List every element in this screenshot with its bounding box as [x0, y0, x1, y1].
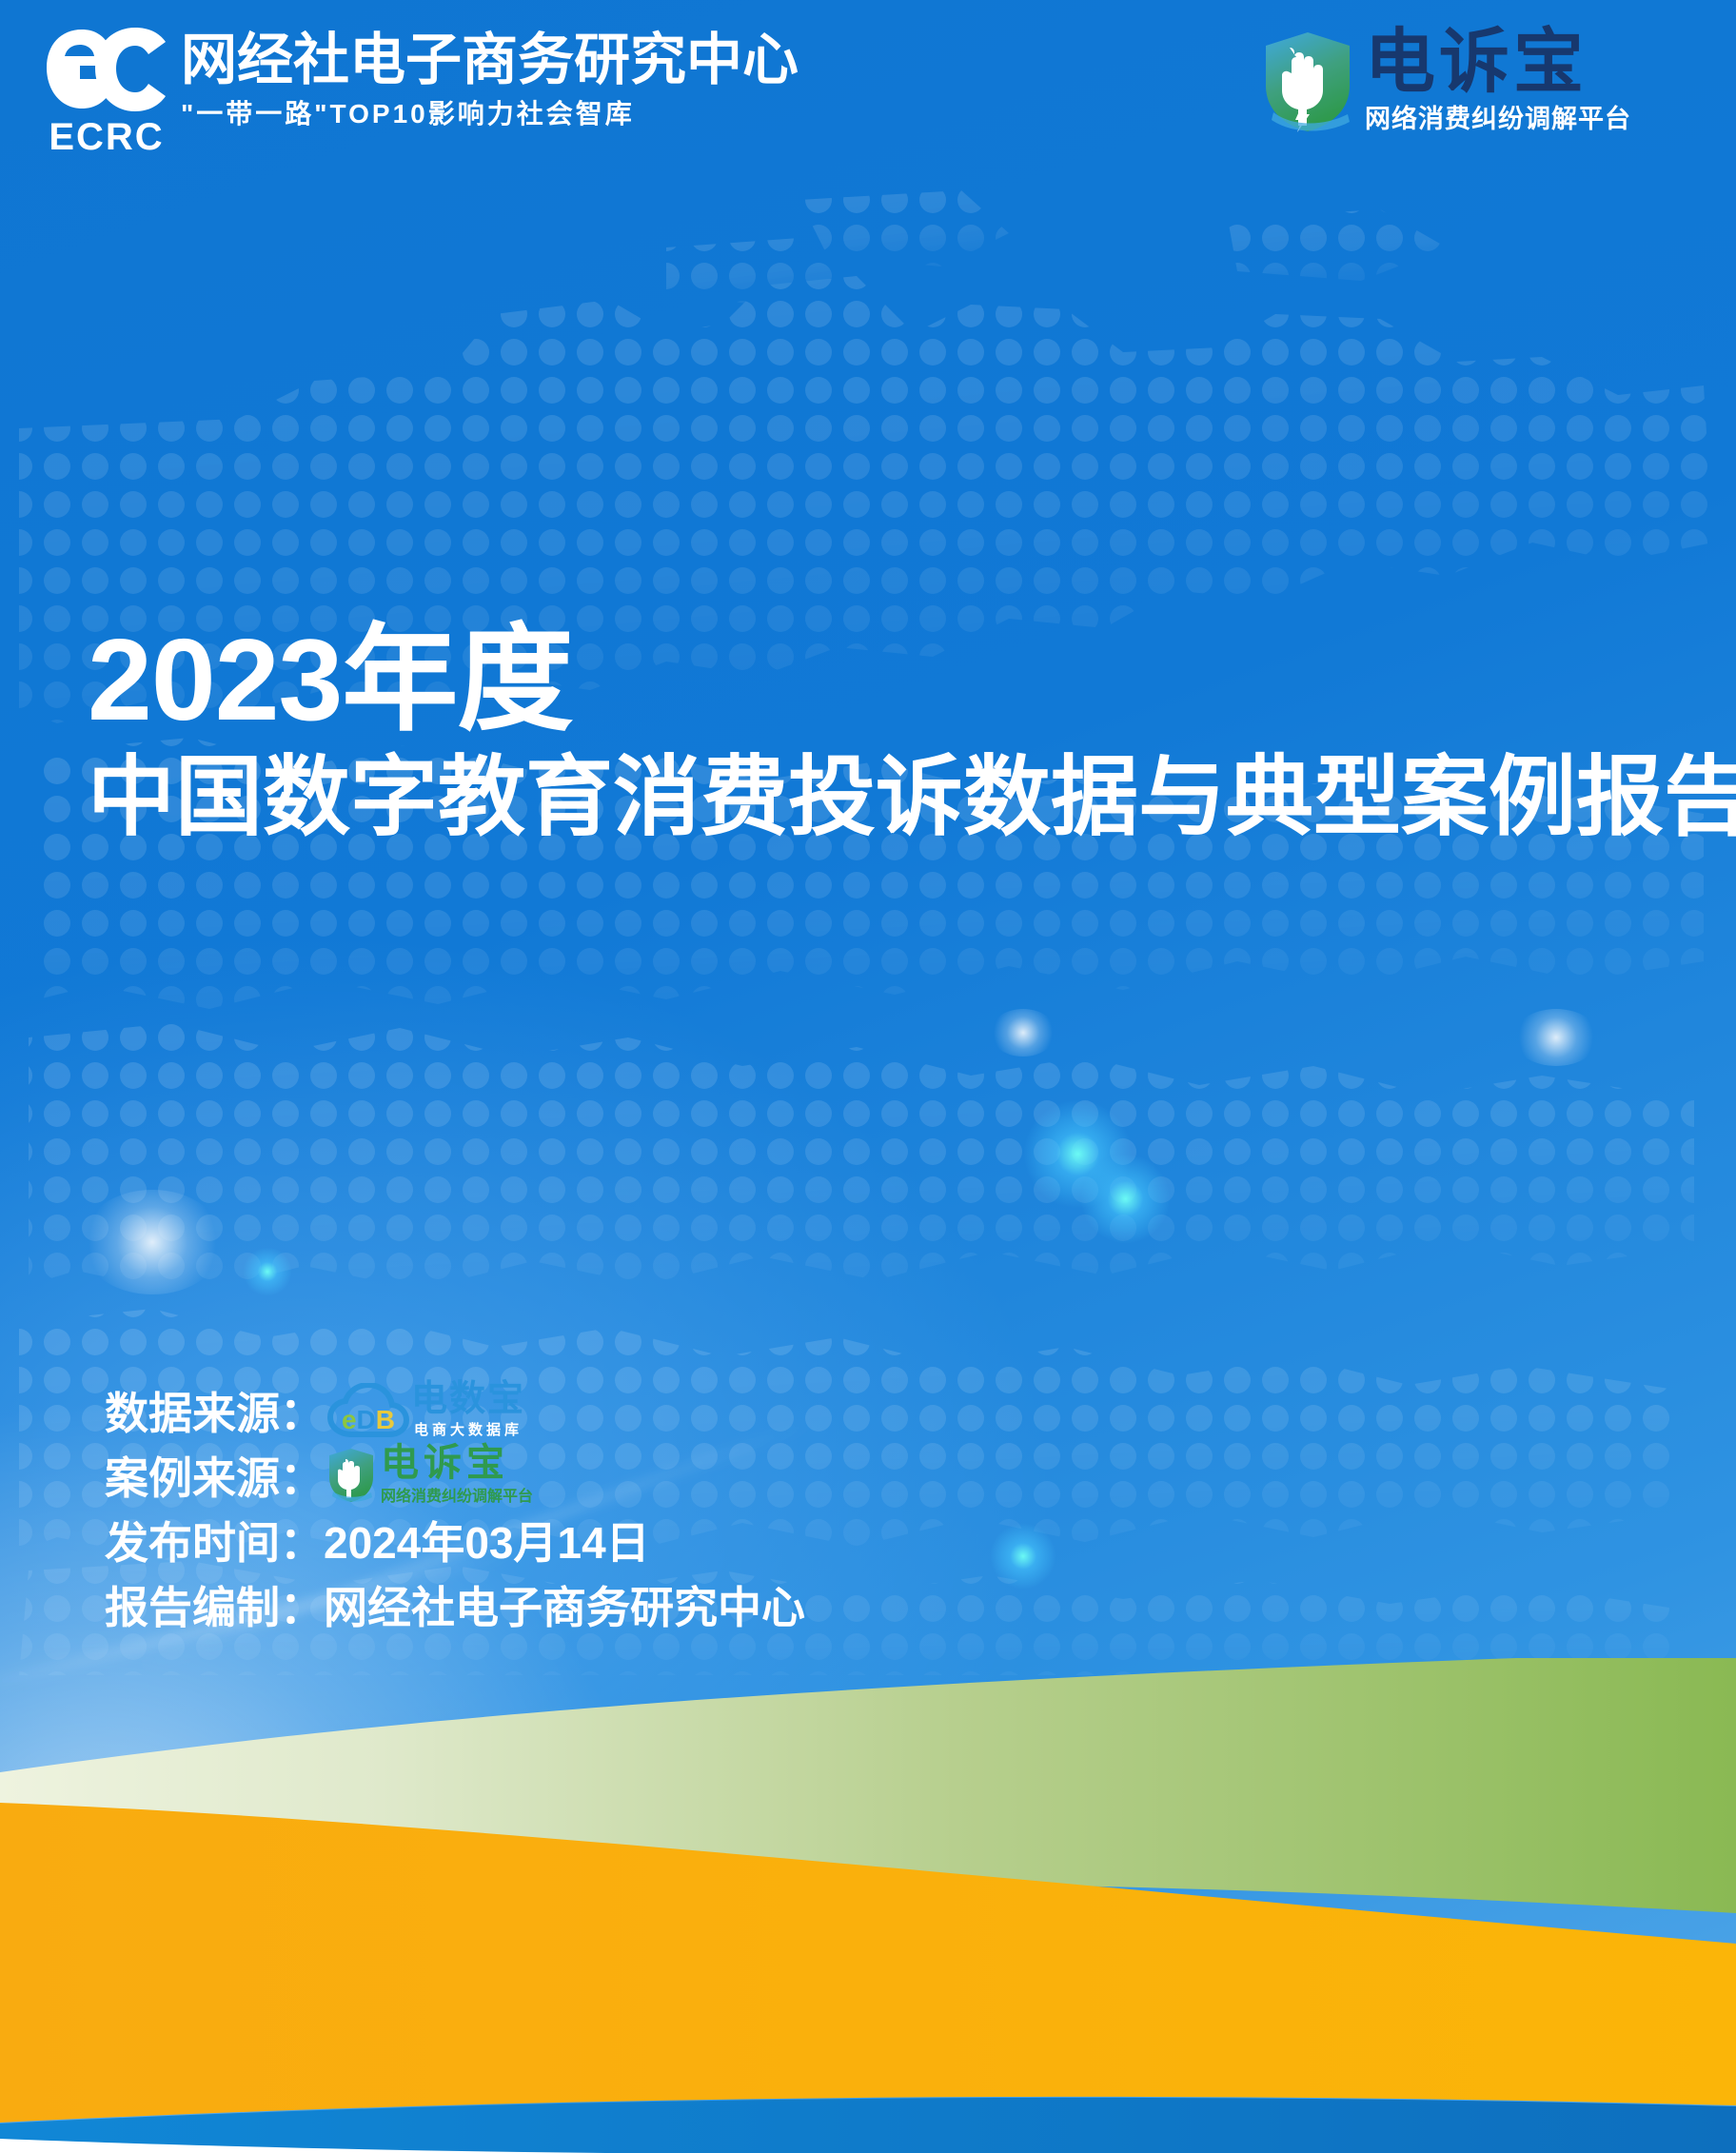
data-source-label: 数据来源：: [105, 1379, 324, 1442]
diansubao-subtitle: 网络消费纠纷调解平台: [1365, 98, 1631, 135]
diansubao-mini-logo-text: 电诉宝 网络消费纠纷调解平台: [381, 1445, 533, 1506]
shield-fist-icon: [1262, 30, 1353, 133]
ec-monogram-icon: [44, 24, 169, 115]
ecrc-logo[interactable]: ECRC 网经社电子商务研究中心 "一带一路"TOP10影响力社会智库: [44, 24, 799, 156]
diansubao-logo[interactable]: 电诉宝 网络消费纠纷调解平台: [1262, 29, 1631, 135]
ecrc-logo-mark: ECRC: [44, 24, 169, 156]
publish-time-value: 2024年03月14日: [324, 1509, 650, 1571]
dianshubao-logo[interactable]: eDB 电数宝 电商大数据库: [327, 1382, 525, 1438]
svg-text:eDB: eDB: [342, 1405, 395, 1434]
cloud-edb-icon: eDB: [327, 1383, 409, 1438]
report-cover: ECRC 网经社电子商务研究中心 "一带一路"TOP10影响力社会智库: [0, 0, 1736, 2153]
diansubao-mini-title: 电诉宝: [381, 1445, 533, 1481]
ecrc-logo-text: 网经社电子商务研究中心 "一带一路"TOP10影响力社会智库: [181, 24, 799, 131]
info-row-publish-time: 发布时间： 2024年03月14日: [105, 1508, 1247, 1572]
info-row-case-source: 案例来源：: [105, 1443, 1247, 1508]
prepared-by-label: 报告编制：: [105, 1573, 324, 1636]
dianshubao-logo-text: 电数宝 电商大数据库: [411, 1382, 525, 1438]
diansubao-title: 电诉宝: [1365, 29, 1631, 95]
diansubao-mini-subtitle: 网络消费纠纷调解平台: [381, 1483, 533, 1506]
case-source-label: 案例来源：: [105, 1444, 324, 1507]
cover-year-title: 2023年度: [88, 619, 1706, 741]
diansubao-mini-logo[interactable]: 电诉宝 网络消费纠纷调解平台: [327, 1445, 533, 1506]
info-row-prepared-by: 报告编制： 网经社电子商务研究中心: [105, 1572, 1247, 1637]
cover-title-block: 2023年度 中国数字教育消费投诉数据与典型案例报告: [88, 619, 1706, 850]
dianshubao-title: 电数宝: [411, 1382, 525, 1416]
dianshubao-subtitle: 电商大数据库: [411, 1419, 525, 1439]
info-row-data-source: 数据来源： eDB 电数宝 电商大数据库: [105, 1378, 1247, 1443]
shield-fist-mini-icon: [327, 1448, 375, 1503]
ecrc-title: 网经社电子商务研究中心: [181, 31, 799, 89]
bottom-wave-decoration: [0, 1658, 1736, 2153]
ecrc-subtitle: "一带一路"TOP10影响力社会智库: [181, 93, 799, 131]
publish-time-label: 发布时间：: [105, 1509, 324, 1571]
prepared-by-value: 网经社电子商务研究中心: [324, 1573, 805, 1636]
header: ECRC 网经社电子商务研究中心 "一带一路"TOP10影响力社会智库: [0, 0, 1736, 181]
ecrc-abbr: ECRC: [49, 118, 164, 156]
diansubao-logo-text: 电诉宝 网络消费纠纷调解平台: [1365, 29, 1631, 135]
cover-info-block: 数据来源： eDB 电数宝 电商大数据库 案例来源：: [105, 1378, 1247, 1637]
cover-main-title: 中国数字教育消费投诉数据与典型案例报告: [88, 746, 1706, 850]
